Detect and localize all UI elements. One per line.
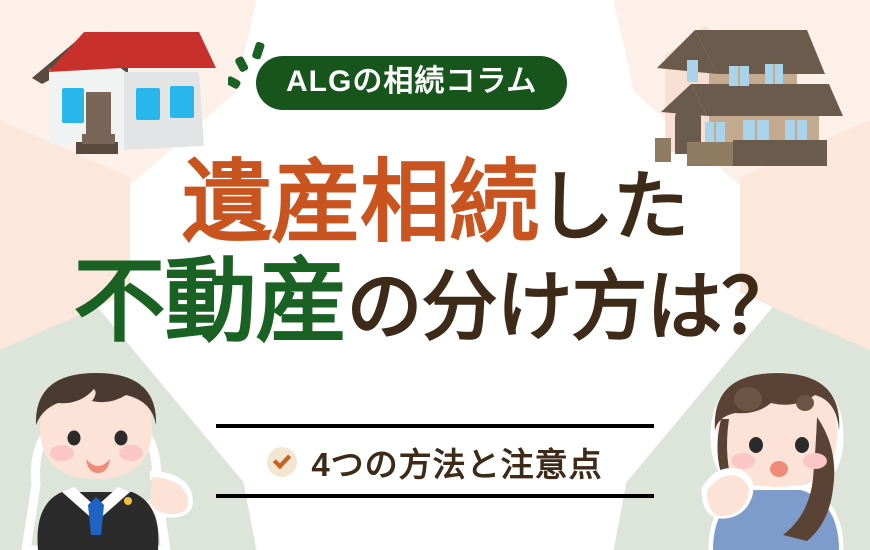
woman-thinking-icon	[685, 365, 870, 550]
subtitle-label: 4つの方法と注意点	[311, 438, 602, 486]
subtitle-rule-bottom	[216, 494, 654, 498]
banner-canvas: ALGの相続コラム 遺産相続した 不動産の分け方は？ 4つの方法と注意点	[0, 0, 870, 550]
person-right-illustration	[685, 365, 870, 550]
title-line-1-highlight: 遺産相続	[182, 153, 538, 253]
sparkle-icon	[228, 40, 288, 100]
badge-container: ALGの相続コラム	[256, 56, 567, 110]
man-in-suit-icon	[0, 365, 210, 550]
person-left-illustration	[0, 365, 210, 550]
title-line-1: 遺産相続した	[0, 158, 870, 250]
title-line-1-tail: した	[538, 165, 688, 250]
title-line-2-tail: の分け方は？	[347, 265, 797, 350]
check-glyph	[272, 452, 292, 472]
title-line-2: 不動産の分け方は？	[0, 256, 870, 350]
house-left-illustration	[24, 22, 234, 167]
subtitle-block: 4つの方法と注意点	[216, 424, 654, 498]
title-line-2-highlight: 不動産	[73, 251, 346, 353]
white-house-red-roof-icon	[24, 22, 234, 167]
badge-label: ALGの相続コラム	[256, 56, 567, 110]
title-block: 遺産相続した 不動産の分け方は？	[0, 158, 870, 350]
two-story-beige-house-icon	[647, 12, 862, 177]
house-right-illustration	[647, 12, 862, 177]
subtitle-row: 4つの方法と注意点	[216, 428, 654, 494]
check-icon	[267, 447, 297, 477]
